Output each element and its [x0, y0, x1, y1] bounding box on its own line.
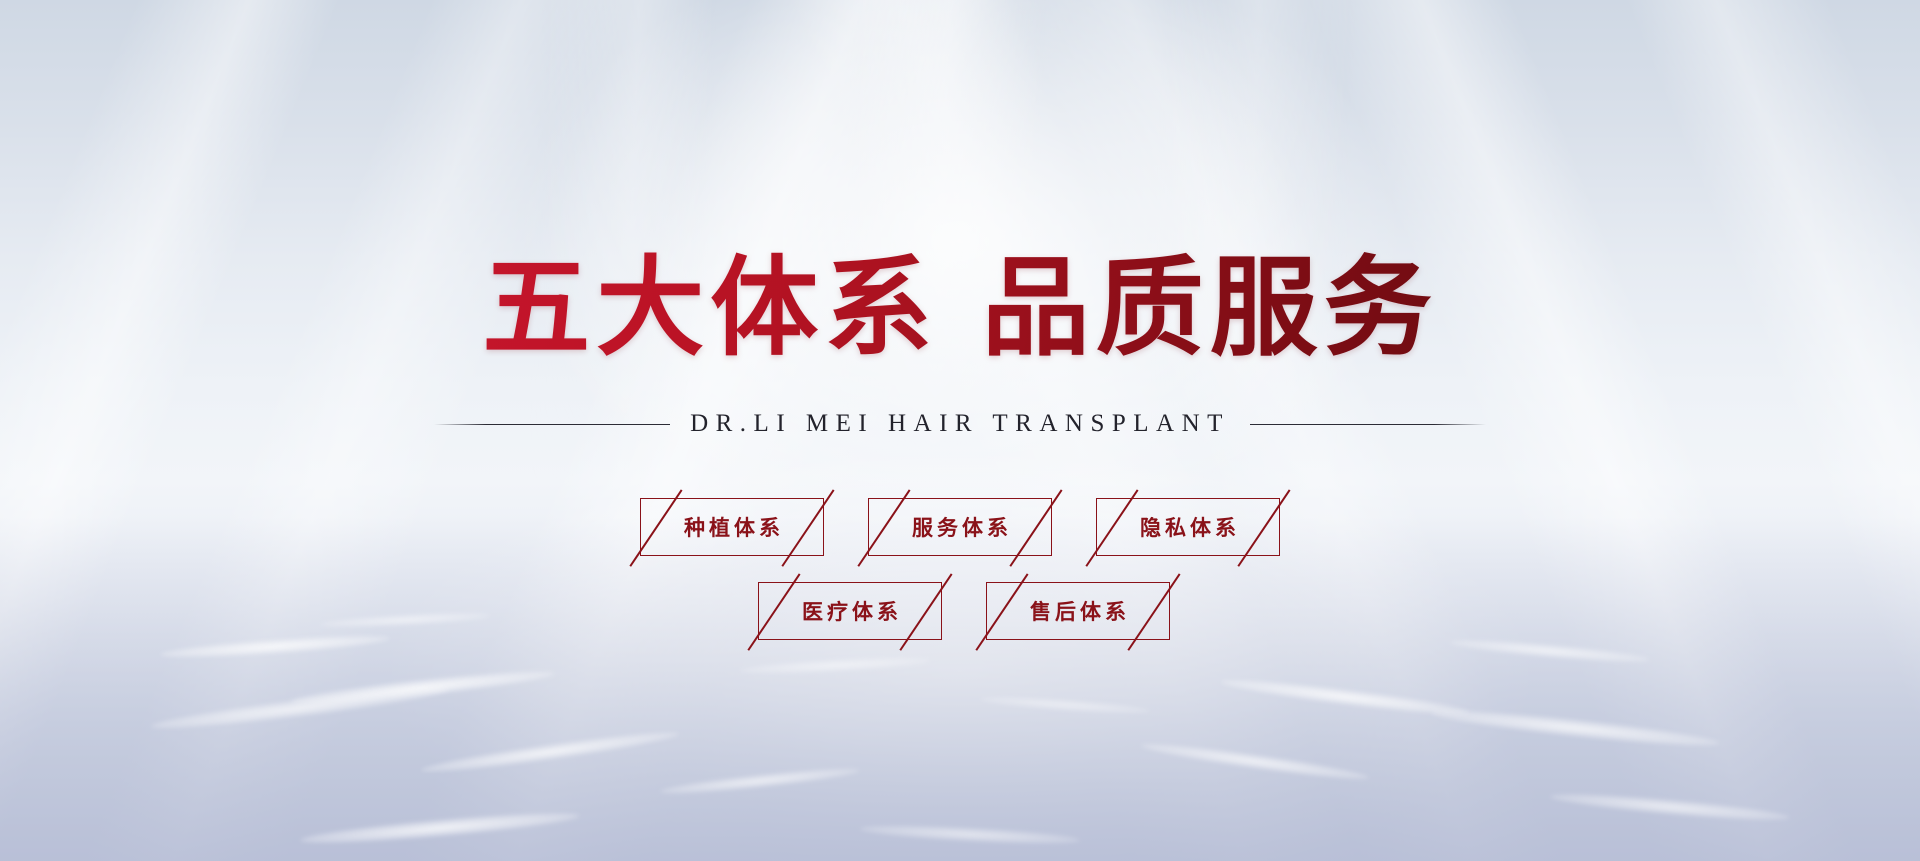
slash-left-icon: [747, 573, 800, 650]
system-badge-label: 隐私体系: [1136, 512, 1240, 542]
system-badge-label: 医疗体系: [798, 596, 902, 626]
slash-left-icon: [1085, 489, 1138, 566]
headline-container: 五大体系 品质服务: [0, 178, 1920, 439]
floor-streak: [1450, 636, 1650, 665]
system-badge-privacy[interactable]: 隐私体系: [1096, 498, 1280, 556]
slash-right-icon: [900, 573, 953, 650]
slash-left-icon: [975, 573, 1028, 650]
system-badge-row-2: 医疗体系 售后体系: [0, 582, 1920, 640]
floor-streak: [1220, 675, 1470, 719]
floor-streak: [660, 765, 860, 798]
floor-streak: [740, 655, 930, 676]
system-badge-service[interactable]: 服务体系: [868, 498, 1052, 556]
floor-streak: [1430, 705, 1720, 751]
system-badge-label: 售后体系: [1026, 596, 1130, 626]
system-badge-label: 服务体系: [908, 512, 1012, 542]
subtitle-row: DR.LI MEI HAIR TRANSPLANT: [0, 410, 1920, 438]
subtitle-rule-right: [1250, 424, 1486, 425]
floor-streak: [300, 808, 580, 848]
system-badge-group: 种植体系 服务体系 隐私体系 医疗体系 售后体系: [0, 498, 1920, 640]
slash-right-icon: [1010, 489, 1063, 566]
floor-streak: [860, 822, 1080, 846]
promo-banner: 五大体系 品质服务 DR.LI MEI HAIR TRANSPLANT 种植体系…: [0, 0, 1920, 861]
slash-left-icon: [857, 489, 910, 566]
floor-streak: [1550, 790, 1790, 825]
system-badge-aftersales[interactable]: 售后体系: [986, 582, 1170, 640]
slash-right-icon: [782, 489, 835, 566]
floor-streak: [1140, 739, 1370, 784]
system-badge-planting[interactable]: 种植体系: [640, 498, 824, 556]
slash-right-icon: [1128, 573, 1181, 650]
system-badge-medical[interactable]: 医疗体系: [758, 582, 942, 640]
slash-left-icon: [629, 489, 682, 566]
floor-streak: [980, 694, 1150, 716]
system-badge-label: 种植体系: [680, 512, 784, 542]
floor-streak: [290, 666, 555, 709]
floor-streak: [420, 727, 679, 777]
page-title: 五大体系 品质服务: [482, 250, 1438, 367]
subtitle-text: DR.LI MEI HAIR TRANSPLANT: [688, 410, 1232, 438]
system-badge-row-1: 种植体系 服务体系 隐私体系: [0, 498, 1920, 556]
floor-streak: [150, 682, 450, 734]
slash-right-icon: [1238, 489, 1291, 566]
subtitle-rule-left: [434, 424, 670, 425]
